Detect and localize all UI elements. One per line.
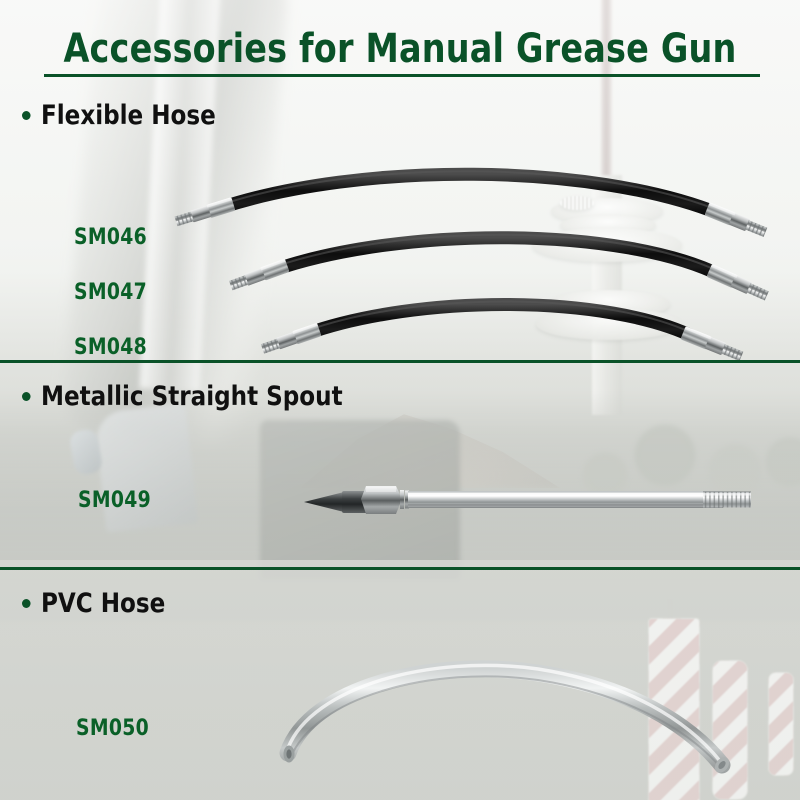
bullet-dot-icon — [22, 111, 31, 120]
pvc-hose-image — [270, 655, 750, 775]
part-number-sm048: SM048 — [74, 335, 147, 360]
section-divider-2 — [0, 567, 800, 570]
bullet-dot-icon — [22, 599, 31, 608]
section-heading-label: Metallic Straight Spout — [41, 381, 343, 412]
section-heading-label: PVC Hose — [41, 588, 165, 619]
product-accessories-poster: Accessories for Manual Grease Gun Flexib… — [0, 0, 800, 800]
section-divider-1 — [0, 360, 800, 363]
section-heading-label: Flexible Hose — [41, 100, 216, 131]
part-number-sm046: SM046 — [74, 225, 147, 250]
page-title: Accessories for Manual Grease Gun — [28, 26, 772, 72]
section-heading-flexible-hose: Flexible Hose — [22, 100, 216, 131]
bullet-dot-icon — [22, 392, 31, 401]
section-heading-pvc-hose: PVC Hose — [22, 588, 165, 619]
section-heading-metallic-straight-spout: Metallic Straight Spout — [22, 381, 343, 412]
part-number-sm047: SM047 — [74, 280, 147, 305]
part-number-sm049: SM049 — [78, 488, 151, 513]
part-number-sm050: SM050 — [76, 716, 149, 741]
metallic-straight-spout-image — [300, 470, 760, 536]
title-underline — [44, 74, 760, 77]
